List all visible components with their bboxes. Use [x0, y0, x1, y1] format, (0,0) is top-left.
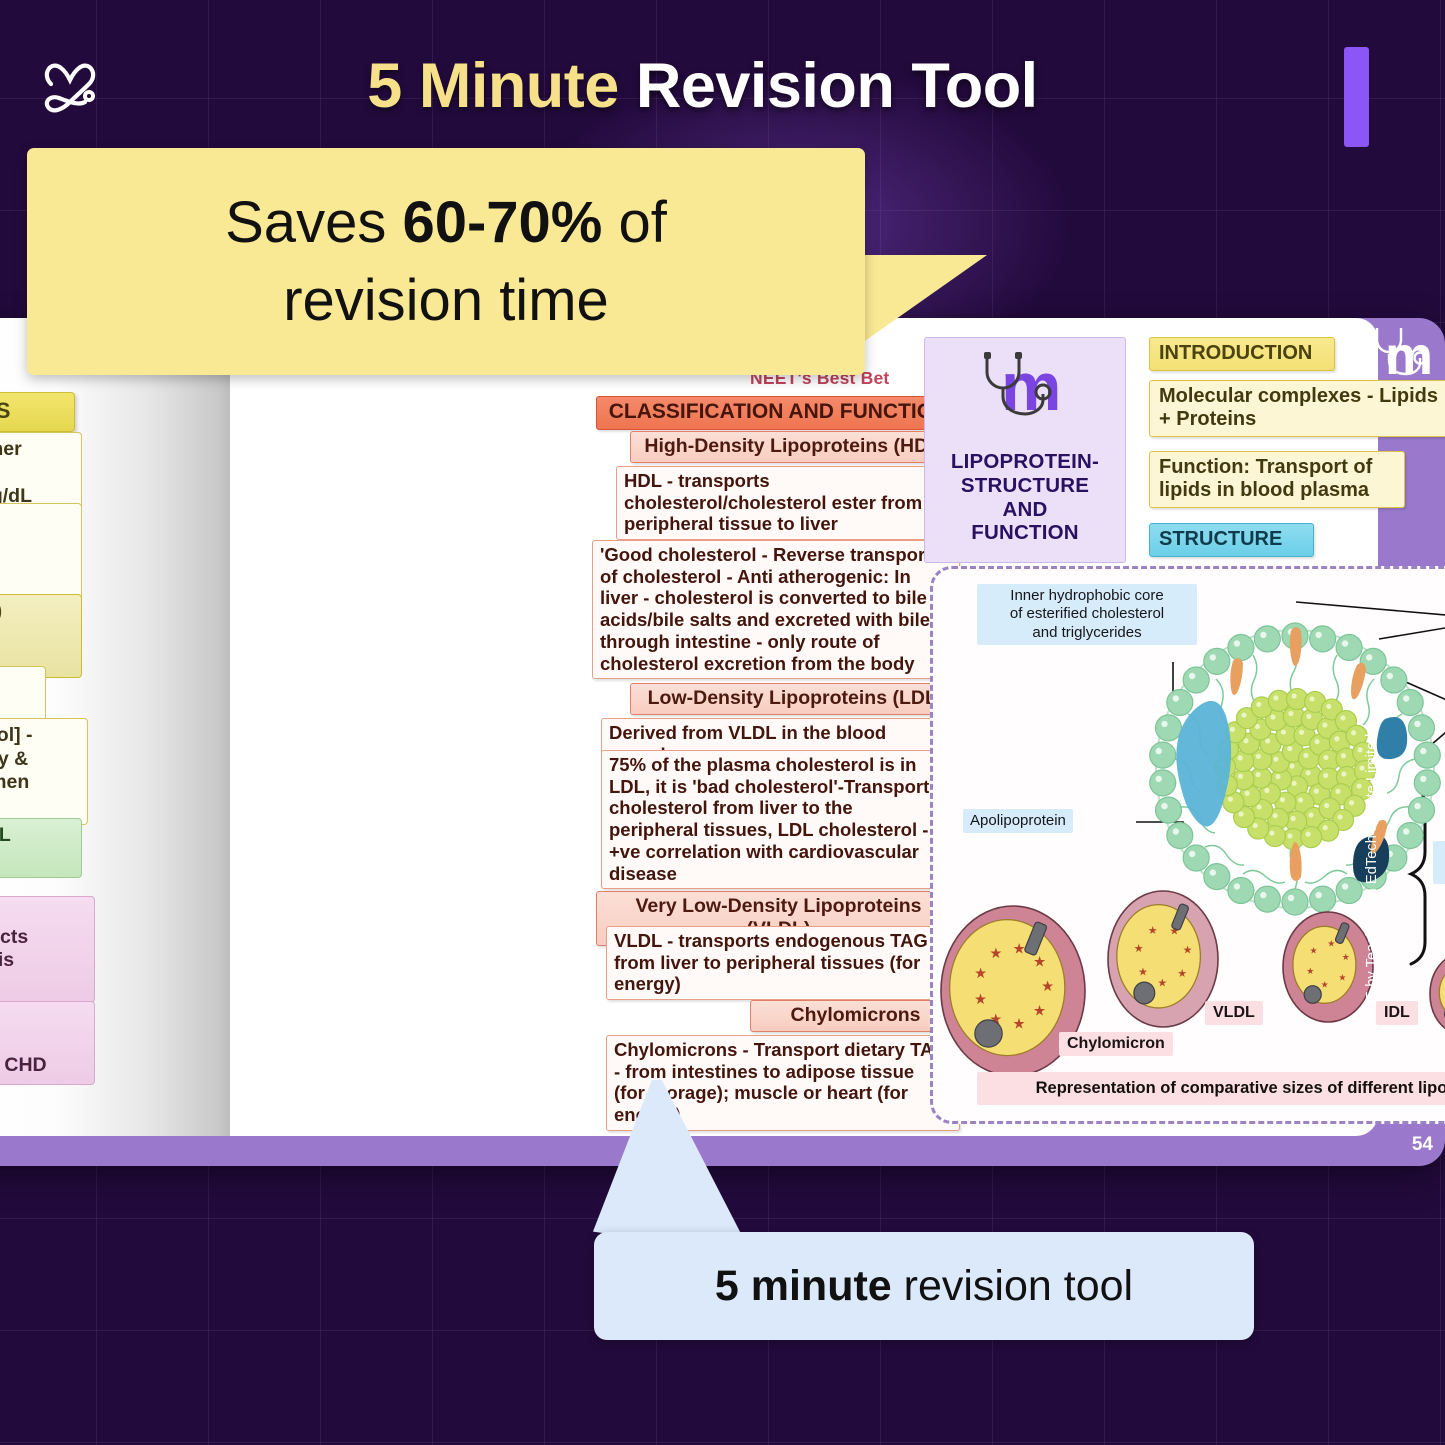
intro-point-1: Molecular complexes - Lipids + Proteins — [1149, 380, 1445, 437]
svg-text:★: ★ — [1033, 955, 1046, 971]
notes-spread: ROL LEVELS resence of other tors: Plasma… — [0, 318, 1445, 1166]
top-callout-tail — [862, 255, 987, 343]
particle-label-vldl: VLDL — [1205, 1001, 1263, 1025]
subheading-hdl: High-Density Lipoproteins (HDL) — [630, 431, 960, 463]
svg-text:★: ★ — [989, 946, 1002, 962]
svg-text:★: ★ — [1134, 943, 1144, 955]
left-note-6: ≈ 80-150 mg/dL ≈ 30-60 mg/dL — [0, 818, 82, 878]
note-good-cholesterol: 'Good cholesterol - Reverse transport of… — [592, 540, 960, 679]
particle-label-chylomicron: Chylomicron — [1059, 1032, 1173, 1056]
svg-text:★: ★ — [1013, 942, 1026, 958]
svg-text:★: ★ — [974, 966, 987, 982]
label-introduction: INTRODUCTION — [1149, 337, 1335, 371]
svg-text:★: ★ — [1138, 967, 1148, 979]
page-title-highlight: 5 Minute — [367, 51, 619, 121]
accent-bar — [1344, 47, 1369, 147]
svg-text:★: ★ — [1012, 1016, 1025, 1032]
svg-text:★: ★ — [1157, 978, 1167, 990]
svg-text:★: ★ — [1321, 979, 1329, 989]
left-note-title: ROL LEVELS — [0, 392, 75, 432]
copyright-text: © 2025 by Teachspoon EdTech Private Limi… — [1364, 721, 1380, 1051]
m-stethoscope-logo-corner: m — [1365, 322, 1439, 388]
svg-text:★: ★ — [1342, 952, 1350, 962]
left-page: ROL LEVELS resence of other tors: Plasma… — [0, 318, 230, 1136]
bottom-callout: 5 minute revision tool — [594, 1232, 1254, 1340]
svg-text:★: ★ — [1041, 979, 1054, 995]
svg-text:★: ★ — [1148, 925, 1158, 937]
svg-text:★: ★ — [1177, 968, 1187, 980]
top-callout: Saves 60-70% of revision time — [27, 148, 865, 375]
diagram-caption: Representation of comparative sizes of d… — [977, 1072, 1445, 1105]
section-heading-classification: CLASSIFICATION AND FUNCTION — [596, 396, 960, 430]
top-callout-line-1: Saves 60-70% of — [225, 184, 667, 262]
page-title: 5 Minute Revision Tool — [0, 50, 1445, 122]
label-structure: STRUCTURE — [1149, 523, 1314, 557]
svg-text:★: ★ — [1338, 972, 1346, 982]
page-title-rest: Revision Tool — [619, 51, 1038, 121]
svg-text:★: ★ — [1306, 966, 1314, 976]
note-vldl-detail: VLDL - transports endogenous TAG - from … — [606, 926, 960, 1000]
label-inner-core: Inner hydrophobic core of esterified cho… — [977, 584, 1197, 645]
m-stethoscope-logo: m — [965, 344, 1085, 436]
topic-card-title: LIPOPROTEIN- STRUCTURE AND FUNCTION — [925, 450, 1125, 545]
label-apolipoprotein: Apolipoprotein — [963, 809, 1073, 833]
svg-text:★: ★ — [974, 992, 987, 1008]
subheading-chylomicrons: Chylomicrons — [750, 1000, 960, 1032]
subheading-ldl: Low-Density Lipoproteins (LDL) — [630, 683, 960, 715]
top-callout-line-2: revision time — [283, 262, 609, 340]
left-note-8: DL-C] - BAD esterol - rosclerosis → CHD — [0, 1001, 95, 1085]
intro-point-2: Function: Transport of lipids in blood p… — [1149, 451, 1405, 508]
left-note-7: DL-C] - GOOD esterol - protects atherosc… — [0, 896, 95, 1003]
bottom-callout-text: 5 minute revision tool — [715, 1262, 1133, 1311]
svg-text:★: ★ — [1183, 945, 1193, 957]
svg-text:★: ★ — [1310, 946, 1318, 956]
svg-text:★: ★ — [1033, 1003, 1046, 1019]
particle-label-idl: IDL — [1376, 1001, 1418, 1025]
page-number: 54 — [1412, 1134, 1433, 1156]
left-note-5: ma [cholesterol] - en - pregnancy & nopa… — [0, 718, 88, 825]
note-ldl-detail: 75% of the plasma cholesterol is in LDL,… — [601, 750, 960, 889]
svg-text:★: ★ — [1327, 939, 1335, 949]
right-page: NEET's Best Bet CLASSIFICATION AND FUNCT… — [230, 318, 1378, 1136]
topic-card: m LIPOPROTEIN- STRUCTURE AND FUNCTION — [924, 337, 1126, 563]
note-hdl-transport: HDL - transports cholesterol/cholesterol… — [616, 466, 960, 540]
